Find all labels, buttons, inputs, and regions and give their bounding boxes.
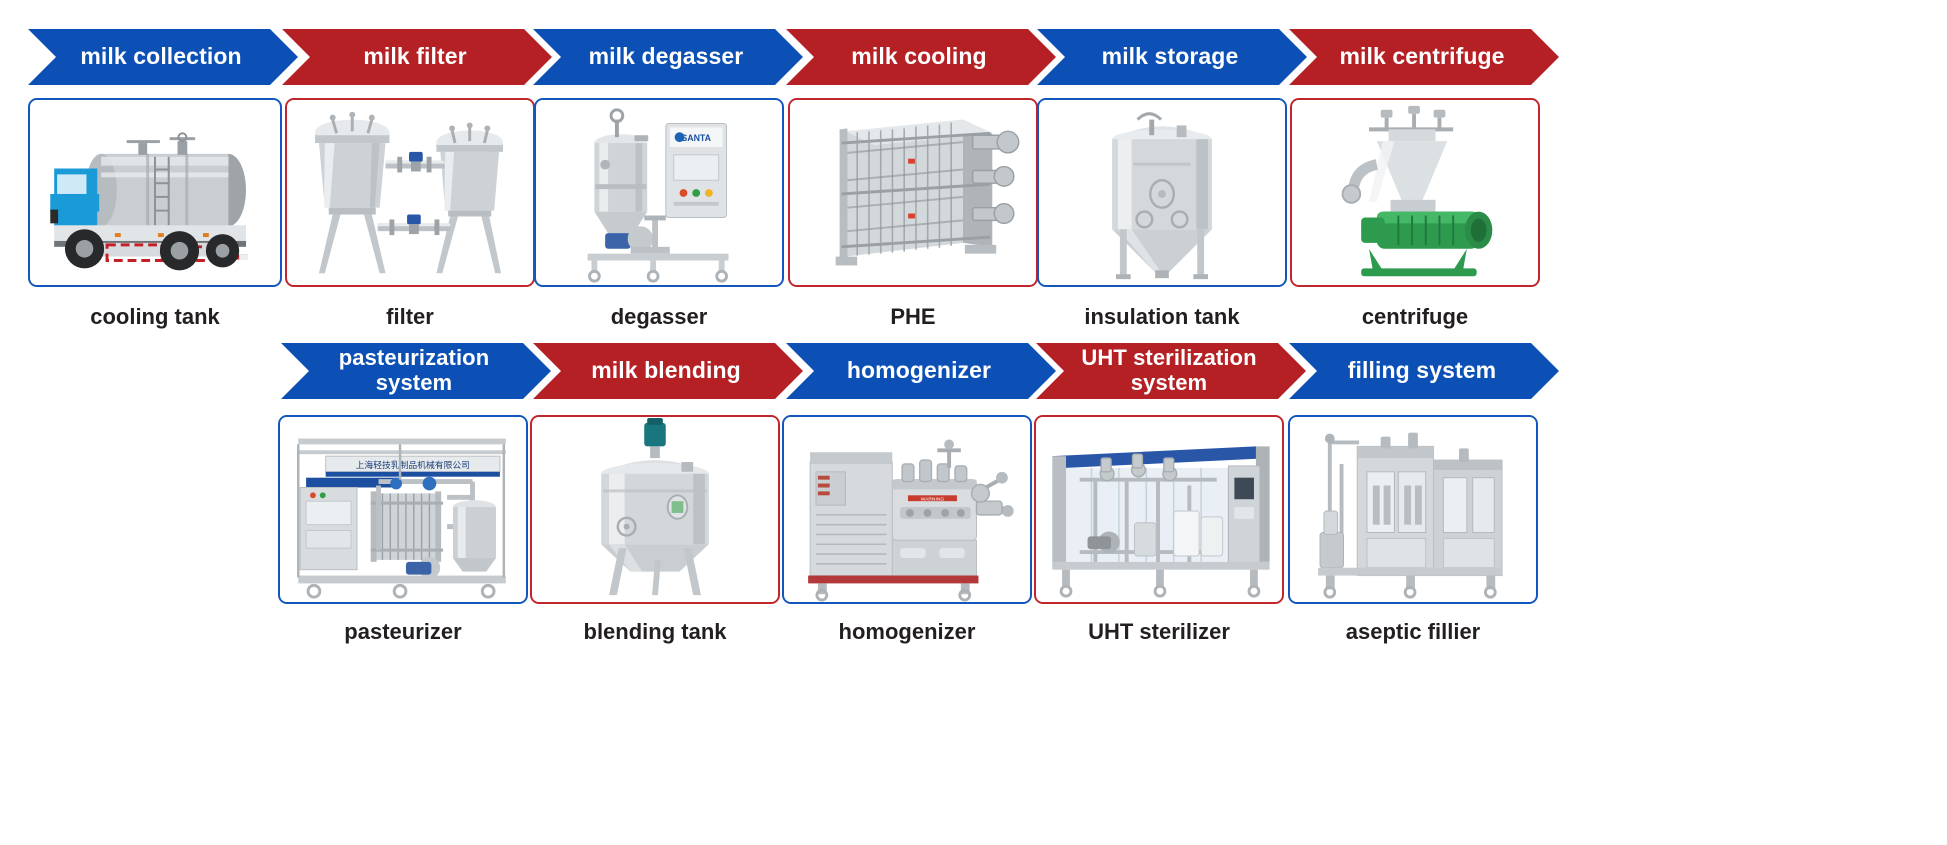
flow-step-label: homogenizer — [816, 358, 1022, 384]
flow-step-arrow-pasteurization-system[interactable]: pasteurization system — [281, 343, 551, 399]
agitated-blending-tank-icon — [532, 417, 778, 602]
svg-text:WARNING: WARNING — [921, 497, 945, 503]
equipment-image-uht-sterilizer[interactable] — [1034, 415, 1284, 604]
equipment-image-aseptic-fillier[interactable] — [1288, 415, 1538, 604]
equipment-image-phe[interactable] — [788, 98, 1038, 287]
equipment-caption-insulation-tank: insulation tank — [1037, 304, 1287, 330]
equipment-caption-pasteurizer: pasteurizer — [278, 619, 528, 645]
flow-step-arrow-milk-cooling[interactable]: milk cooling — [786, 29, 1056, 85]
equipment-image-centrifuge[interactable] — [1290, 98, 1540, 287]
duplex-bag-filter-icon — [287, 100, 533, 285]
aseptic-filling-machine-icon — [1290, 417, 1536, 602]
flow-step-arrow-filling-system[interactable]: filling system — [1289, 343, 1559, 399]
vacuum-degasser-icon: SANTA — [536, 100, 782, 285]
svg-text:SANTA: SANTA — [681, 133, 711, 143]
insulated-storage-tank-icon — [1039, 100, 1285, 285]
equipment-caption-homogenizer: homogenizer — [782, 619, 1032, 645]
high-pressure-homogenizer-icon: WARNING — [784, 417, 1030, 602]
equipment-caption-cooling-tank: cooling tank — [28, 304, 282, 330]
disc-centrifuge-separator-icon — [1292, 100, 1538, 285]
plate-heat-exchanger-icon — [790, 100, 1036, 285]
flow-step-arrow-milk-storage[interactable]: milk storage — [1037, 29, 1307, 85]
plate-pasteurizer-skid-icon: 上海轻技乳制品机械有限公司 — [280, 417, 526, 602]
flow-step-arrow-milk-blending[interactable]: milk blending — [533, 343, 803, 399]
equipment-image-homogenizer[interactable]: WARNING — [782, 415, 1032, 604]
svg-text:上海轻技乳制品机械有限公司: 上海轻技乳制品机械有限公司 — [356, 459, 470, 470]
equipment-caption-blending-tank: blending tank — [530, 619, 780, 645]
flow-step-label: UHT sterilization system — [1066, 346, 1272, 395]
equipment-image-filter[interactable] — [285, 98, 535, 287]
equipment-caption-centrifuge: centrifuge — [1290, 304, 1540, 330]
milk-process-flow-diagram: milk collection milk filter milk degasse… — [0, 0, 1947, 845]
flow-step-label: milk degasser — [563, 44, 769, 70]
flow-step-label: filling system — [1319, 358, 1525, 384]
equipment-caption-filter: filter — [285, 304, 535, 330]
equipment-caption-degasser: degasser — [534, 304, 784, 330]
equipment-image-degasser[interactable]: SANTA — [534, 98, 784, 287]
flow-step-label: milk blending — [563, 358, 769, 384]
equipment-caption-uht-sterilizer: UHT sterilizer — [1034, 619, 1284, 645]
equipment-caption-aseptic-fillier: aseptic fillier — [1288, 619, 1538, 645]
equipment-image-cooling-tank[interactable] — [28, 98, 282, 287]
flow-step-arrow-milk-filter[interactable]: milk filter — [282, 29, 552, 85]
flow-step-arrow-homogenizer[interactable]: homogenizer — [786, 343, 1056, 399]
equipment-image-blending-tank[interactable] — [530, 415, 780, 604]
flow-step-label: milk storage — [1067, 44, 1273, 70]
flow-step-label: pasteurization system — [311, 346, 517, 395]
flow-step-arrow-uht-sterilization-system[interactable]: UHT sterilization system — [1036, 343, 1306, 399]
flow-step-arrow-milk-collection[interactable]: milk collection — [28, 29, 298, 85]
uht-sterilizer-skid-icon — [1036, 417, 1282, 602]
equipment-image-insulation-tank[interactable] — [1037, 98, 1287, 287]
flow-step-label: milk centrifuge — [1319, 44, 1525, 70]
milk-tanker-truck-icon — [30, 100, 280, 285]
flow-step-arrow-milk-degasser[interactable]: milk degasser — [533, 29, 803, 85]
flow-step-label: milk cooling — [816, 44, 1022, 70]
equipment-caption-phe: PHE — [788, 304, 1038, 330]
flow-step-label: milk filter — [312, 44, 518, 70]
equipment-image-pasteurizer[interactable]: 上海轻技乳制品机械有限公司 — [278, 415, 528, 604]
flow-step-label: milk collection — [58, 44, 264, 70]
flow-step-arrow-milk-centrifuge[interactable]: milk centrifuge — [1289, 29, 1559, 85]
